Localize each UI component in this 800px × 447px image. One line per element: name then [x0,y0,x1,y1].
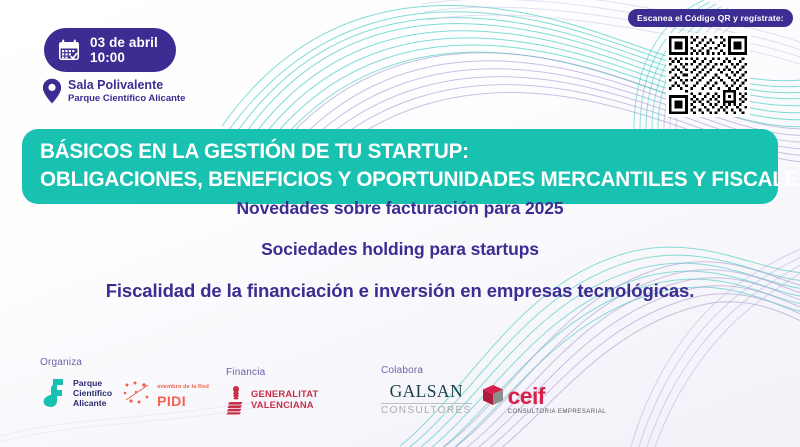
generalitat-crest-icon [226,385,246,415]
sponsor-group-colabora-title: Colabora [381,365,606,376]
galsan-subtitle: CONSULTORES [381,405,472,416]
pidi-line1: miembro de la Red [157,384,209,390]
event-location: Sala Polivalente Parque Científico Alica… [42,78,185,104]
pidi-wordmark: miembro de la Red PIDI [157,375,209,411]
event-date-value: 03 de abril [90,35,158,50]
map-pin-icon [42,78,62,104]
qr-code-icon[interactable] [666,33,750,117]
sponsor-group-colabora: Colabora GALSAN CONSULTORES [381,365,606,416]
event-title-line2: OBLIGACIONES, BENEFICIOS Y OPORTUNIDADES… [40,166,731,194]
event-topics-list: Novedades sobre facturación para 2025 So… [0,198,800,302]
generalitat-line2: VALENCIANA [251,399,314,410]
venue-detail: Parque Científico Alicante [68,93,185,104]
event-topic-1: Novedades sobre facturación para 2025 [0,198,800,219]
event-poster: 03 de abril 10:00 Sala Polivalente Parqu… [0,0,800,447]
ceif-cube-icon [482,384,504,406]
parque-line3: Alicante [73,398,106,408]
pidi-network-dots-icon [122,380,152,406]
parque-line2: Científico [73,388,112,398]
parque-line1: Parque [73,378,102,388]
logo-parque-cientifico-alicante: Parque Científico Alicante [40,378,112,408]
ceif-wordmark: ceif CONSULTORIA EMPRESARIAL [508,386,607,415]
logo-pidi: miembro de la Red PIDI [122,375,209,411]
venue-name: Sala Polivalente [68,78,185,93]
sponsor-group-organiza: Organiza Parque Científico Alicante [40,357,209,411]
parque-cientifico-wordmark: Parque Científico Alicante [73,378,112,408]
logo-ceif: ceif CONSULTORIA EMPRESARIAL [482,384,607,415]
calendar-icon [57,38,81,62]
sponsor-group-financia: Financia [226,367,318,415]
event-date-text: 03 de abril 10:00 [90,35,158,65]
galsan-wordmark: GALSAN [381,383,472,401]
sponsor-group-organiza-title: Organiza [40,357,209,368]
sponsor-footer: Organiza Parque Científico Alicante [0,357,800,443]
qr-registration-block[interactable]: Escanea el Código QR y regístrate: [628,8,788,117]
generalitat-wordmark: GENERALITAT VALENCIANA [251,389,318,411]
logo-generalitat-valenciana: GENERALITAT VALENCIANA [226,385,318,415]
event-time-value: 10:00 [90,50,158,65]
event-topic-3: Fiscalidad de la financiación e inversió… [0,280,800,302]
ceif-subtitle: CONSULTORIA EMPRESARIAL [508,408,607,415]
generalitat-line1: GENERALITAT [251,388,318,399]
event-title-line1: BÁSICOS EN LA GESTIÓN DE TU STARTUP: [40,138,731,166]
event-location-text: Sala Polivalente Parque Científico Alica… [68,78,185,104]
event-date-badge: 03 de abril 10:00 [44,28,176,72]
event-title-banner: BÁSICOS EN LA GESTIÓN DE TU STARTUP: OBL… [22,129,778,204]
logo-galsan-consultores: GALSAN CONSULTORES [381,383,472,416]
qr-label: Escanea el Código QR y regístrate: [628,9,793,27]
sponsor-group-financia-title: Financia [226,367,318,378]
ceif-name: ceif [508,386,607,408]
event-topic-2: Sociedades holding para startups [0,239,800,260]
galsan-divider [381,403,472,404]
parque-cientifico-mark-icon [40,378,67,408]
pidi-line2: PIDI [157,393,186,409]
